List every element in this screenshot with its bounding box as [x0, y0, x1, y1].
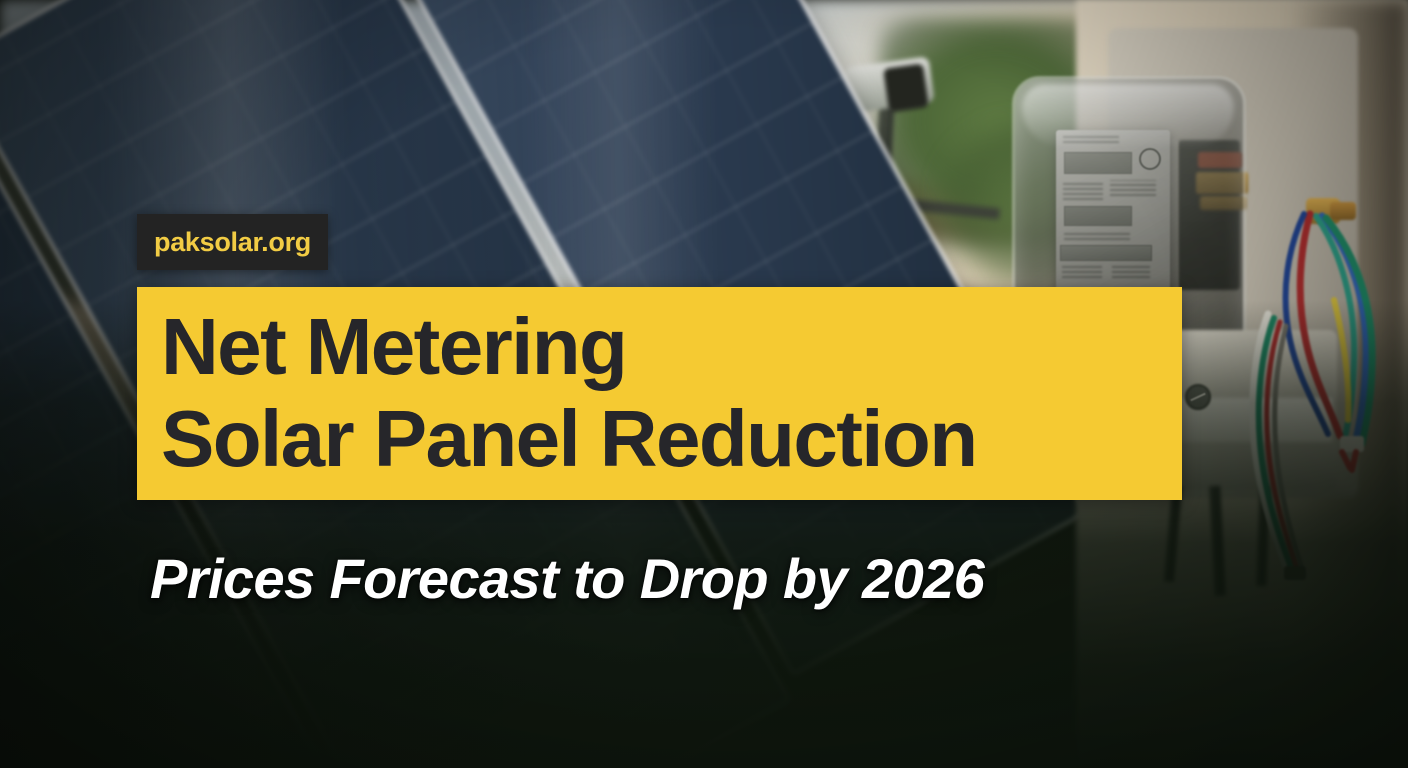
site-badge-label: paksolar.org [154, 229, 311, 256]
headline-banner: Net Metering Solar Panel Reduction [137, 287, 1182, 500]
banner-content: paksolar.org Net Metering Solar Panel Re… [0, 0, 1408, 768]
promo-banner: paksolar.org Net Metering Solar Panel Re… [0, 0, 1408, 768]
site-badge[interactable]: paksolar.org [137, 214, 328, 270]
headline-line-2: Solar Panel Reduction [161, 393, 1158, 485]
headline-line-1: Net Metering [161, 301, 1158, 393]
subtitle: Prices Forecast to Drop by 2026 [150, 547, 1270, 611]
